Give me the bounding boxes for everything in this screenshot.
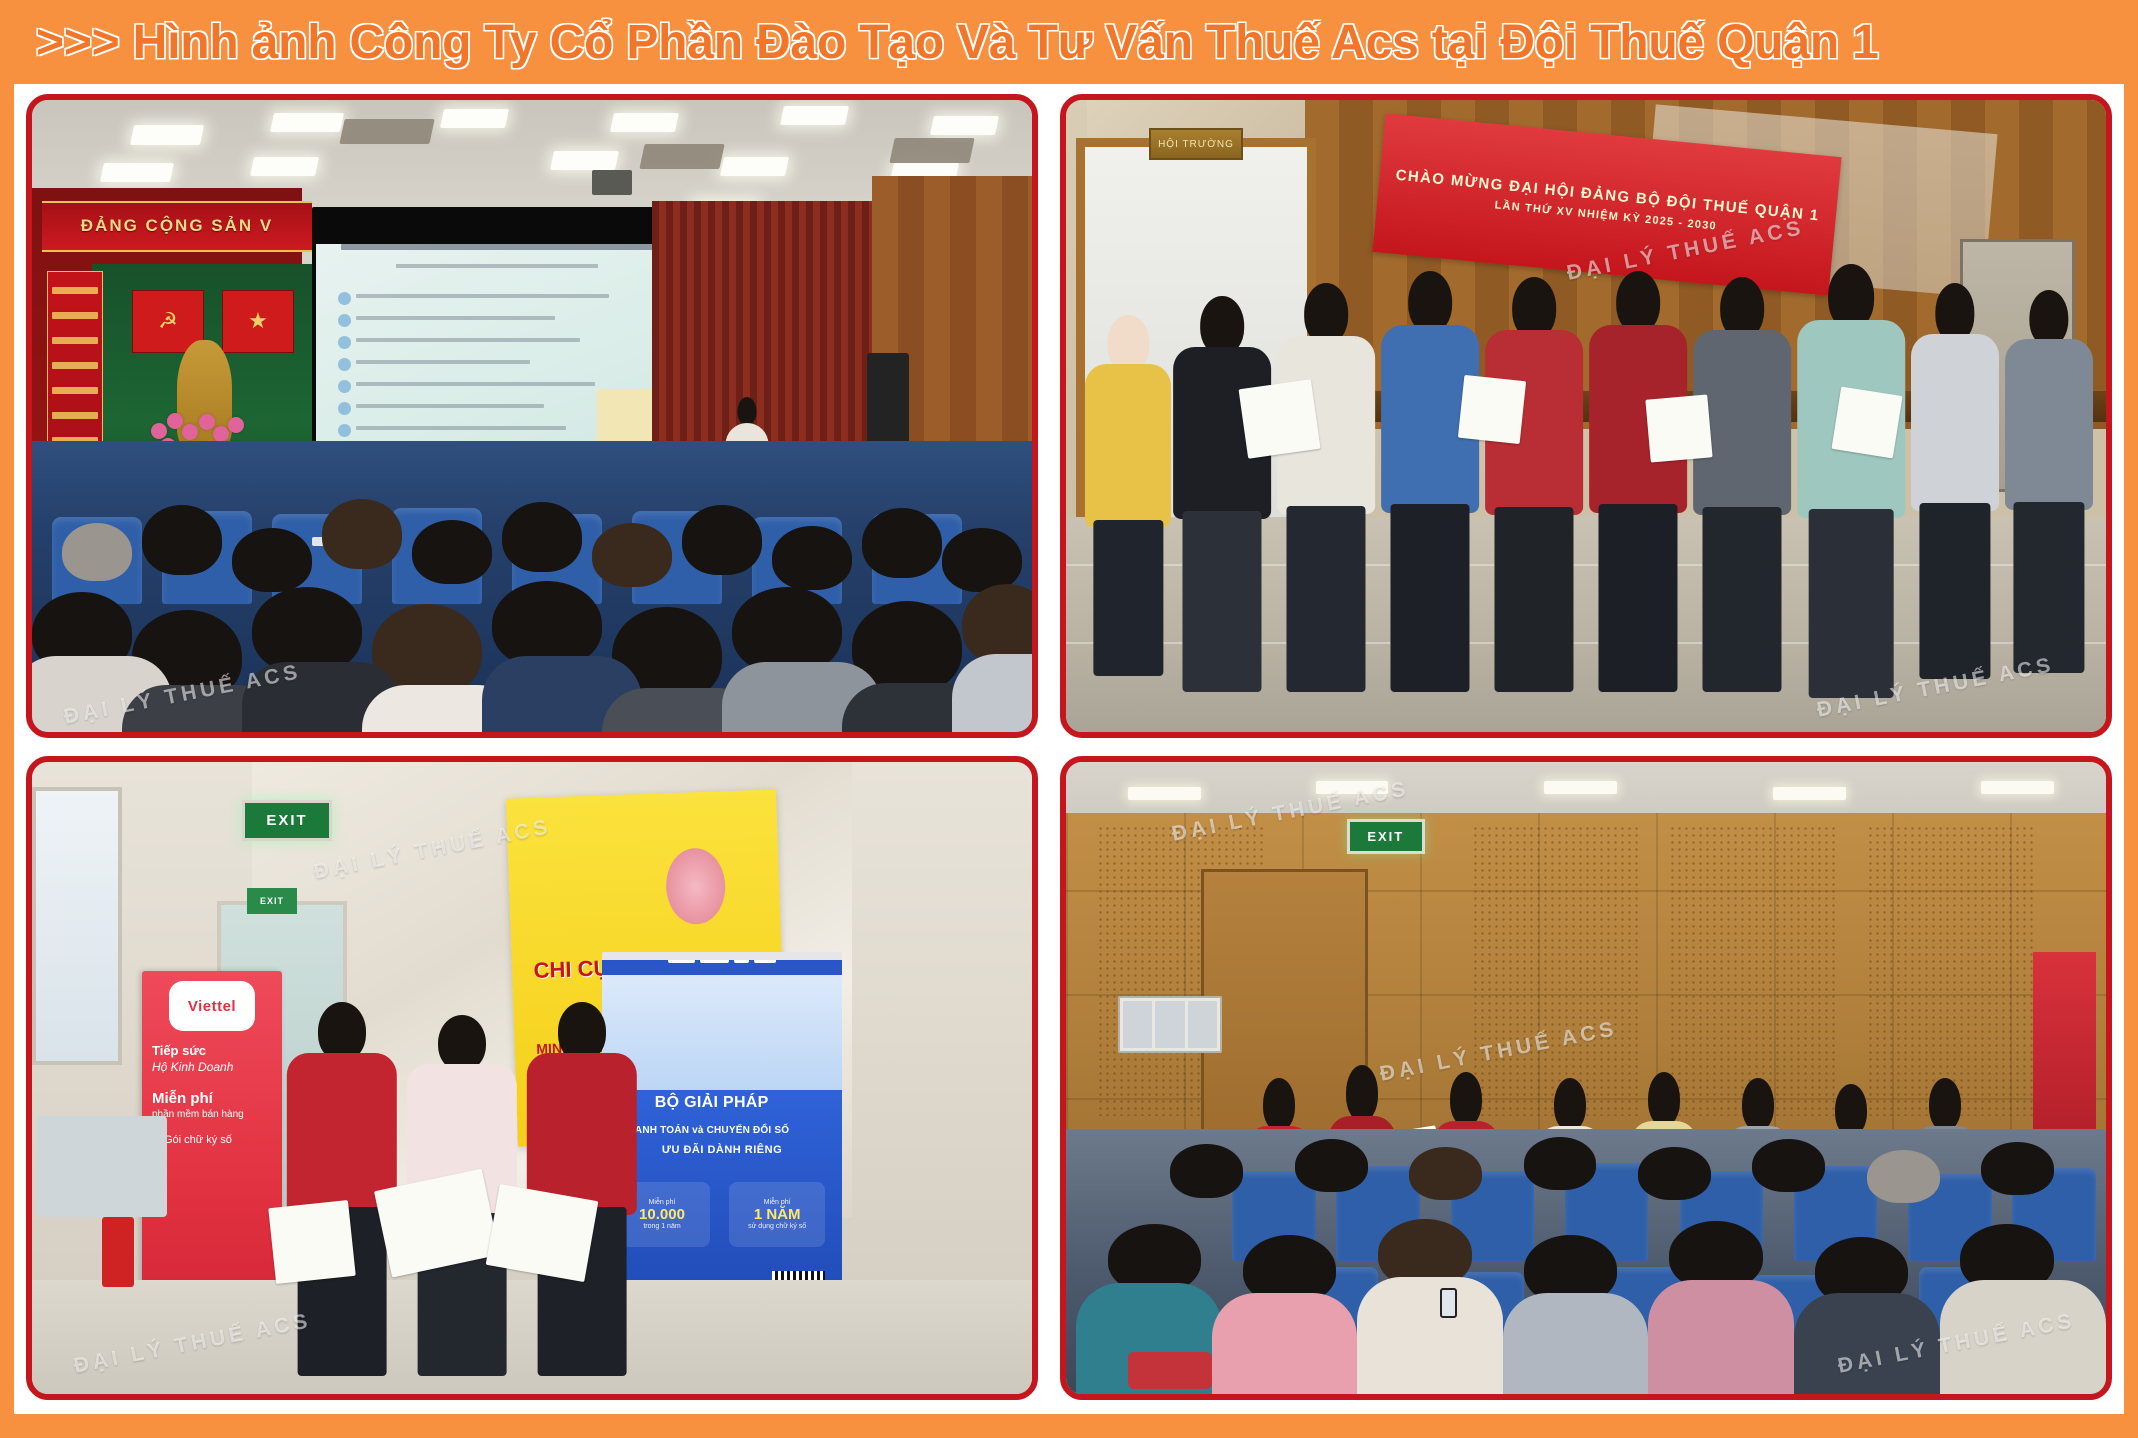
national-flag: ★ xyxy=(222,290,294,353)
banner-title: BỘ GIẢI PHÁP xyxy=(655,1094,769,1112)
ceiling-vent xyxy=(639,144,724,169)
wall-brochure-holder xyxy=(1118,996,1222,1053)
person-in-queue xyxy=(1794,264,1908,694)
perforated-panel xyxy=(1867,825,2033,1116)
viettel-logo: Viettel xyxy=(169,981,256,1032)
person-in-queue xyxy=(1482,277,1586,688)
staff-member xyxy=(522,1002,642,1369)
standee-line-2: Hộ Kinh Doanh xyxy=(152,1060,272,1074)
photo-viettel-booth[interactable]: EXIT EXIT CHI CỤC MINH BẠCH Viettel Tiếp… xyxy=(26,756,1038,1400)
red-banner xyxy=(2033,952,2095,1142)
offer-1-label: Miễn phí xyxy=(649,1199,676,1206)
ceiling-light xyxy=(1128,787,1201,800)
document-paper xyxy=(1646,394,1714,462)
banner-subtitle: THANH TOÁN và CHUYỂN ĐỔI SỐ xyxy=(621,1125,789,1136)
logo-bidv: BIDV xyxy=(754,954,777,963)
audience-seating xyxy=(1066,1129,2106,1394)
fire-extinguisher xyxy=(102,1217,134,1287)
leaflet xyxy=(268,1200,355,1284)
person-in-queue xyxy=(1908,283,2002,675)
exit-sign: EXIT xyxy=(1347,819,1425,854)
ceiling-light xyxy=(270,113,344,132)
standee-line-5: Gói chữ ký số xyxy=(164,1134,272,1146)
viettel-booth-scene: EXIT EXIT CHI CỤC MINH BẠCH Viettel Tiếp… xyxy=(32,762,1032,1394)
person-in-queue xyxy=(1274,283,1378,687)
ceiling-light xyxy=(550,151,619,170)
waiting-bench xyxy=(37,1116,167,1217)
ceiling-light xyxy=(1316,781,1389,794)
photo-wooden-hall[interactable]: EXIT xyxy=(1060,756,2112,1400)
ceiling-light xyxy=(610,113,679,132)
offer-2-value: 1 NĂM xyxy=(754,1206,801,1223)
audience-seating xyxy=(32,441,1032,732)
logo-vnpay: VNPAY xyxy=(700,954,729,963)
page-title: >>> Hình ảnh Công Ty Cổ Phần Đào Tạo Và … xyxy=(36,15,1879,70)
logo-viettel: Viettel xyxy=(668,954,695,963)
photo-lobby-queue[interactable]: HỘI TRƯỜNG CHÀO MỪNG ĐẠI HỘI ĐẢNG BỘ ĐỘI… xyxy=(1060,94,2112,738)
staff-member xyxy=(282,1002,402,1369)
ceiling-light xyxy=(1981,781,2054,794)
offer-2-label: Miễn phí xyxy=(764,1199,791,1206)
person-in-queue xyxy=(1586,271,1690,688)
conference-hall-scene: ĐẢNG CỘNG SẢN V ☭ ★ xyxy=(32,100,1032,732)
ceiling-light xyxy=(100,163,174,182)
national-flag-star: ★ xyxy=(248,308,268,334)
logo-cii: CII xyxy=(734,954,749,963)
ceiling-light xyxy=(930,116,999,135)
banner-offer-heading: ƯU ĐÃI DÀNH RIÊNG xyxy=(662,1144,782,1156)
photo-conference-hall[interactable]: ĐẢNG CỘNG SẢN V ☭ ★ xyxy=(26,94,1038,738)
ceiling-light xyxy=(130,125,204,145)
ceiling-light xyxy=(1773,787,1846,800)
photo-board: ĐẢNG CỘNG SẢN V ☭ ★ xyxy=(14,84,2124,1414)
offer-2-note: sử dụng chữ ký số xyxy=(748,1223,806,1230)
person-in-queue xyxy=(1170,296,1274,688)
window xyxy=(32,787,122,1065)
party-flag-emblem: ☭ xyxy=(158,308,178,334)
document-paper xyxy=(1831,386,1903,458)
ceiling-light xyxy=(720,157,789,176)
wooden-hall-scene: EXIT xyxy=(1066,762,2106,1394)
ceiling-light xyxy=(250,157,319,176)
exit-sign: EXIT xyxy=(242,800,332,841)
standee-line-4: phần mềm bán hàng xyxy=(152,1109,272,1120)
photo-row-top: ĐẢNG CỘNG SẢN V ☭ ★ xyxy=(26,94,2112,738)
ceiling-vent xyxy=(339,119,434,144)
photo-row-bottom: EXIT EXIT CHI CỤC MINH BẠCH Viettel Tiếp… xyxy=(26,756,2112,1400)
standee-line-1: Tiếp sức xyxy=(152,1043,272,1058)
partner-logos: Viettel VNPAY CII BIDV xyxy=(602,953,842,965)
ceiling-light xyxy=(780,106,849,125)
standee-line-3: Miễn phí xyxy=(152,1090,272,1107)
person-in-queue xyxy=(1690,277,1794,688)
document-paper xyxy=(1238,380,1320,459)
offer-1-note: trong 1 năm xyxy=(643,1223,680,1230)
page-title-bar: >>> Hình ảnh Công Ty Cổ Phần Đào Tạo Và … xyxy=(14,0,2124,84)
national-emblem xyxy=(664,846,726,924)
projector xyxy=(592,170,632,195)
ceiling-vent xyxy=(889,138,974,163)
hall-door-sign: HỘI TRƯỜNG xyxy=(1149,128,1243,160)
person-in-queue xyxy=(1082,315,1176,669)
exit-sign-small: EXIT xyxy=(247,888,297,913)
document-paper xyxy=(1458,375,1527,444)
stage-banner: ĐẢNG CỘNG SẢN V xyxy=(42,201,312,252)
ceiling-light xyxy=(440,109,509,128)
lobby-queue-scene: HỘI TRƯỜNG CHÀO MỪNG ĐẠI HỘI ĐẢNG BỘ ĐỘI… xyxy=(1066,100,2106,732)
poster-page: >>> Hình ảnh Công Ty Cổ Phần Đào Tạo Và … xyxy=(0,0,2138,1438)
person-in-queue xyxy=(1378,271,1482,688)
leaflet xyxy=(486,1184,599,1282)
person-in-queue xyxy=(2002,290,2096,669)
offer-1-value: 10.000 xyxy=(639,1206,685,1223)
ceiling-light xyxy=(1544,781,1617,794)
offer-box-2: Miễn phí 1 NĂM sử dụng chữ ký số xyxy=(729,1182,825,1247)
